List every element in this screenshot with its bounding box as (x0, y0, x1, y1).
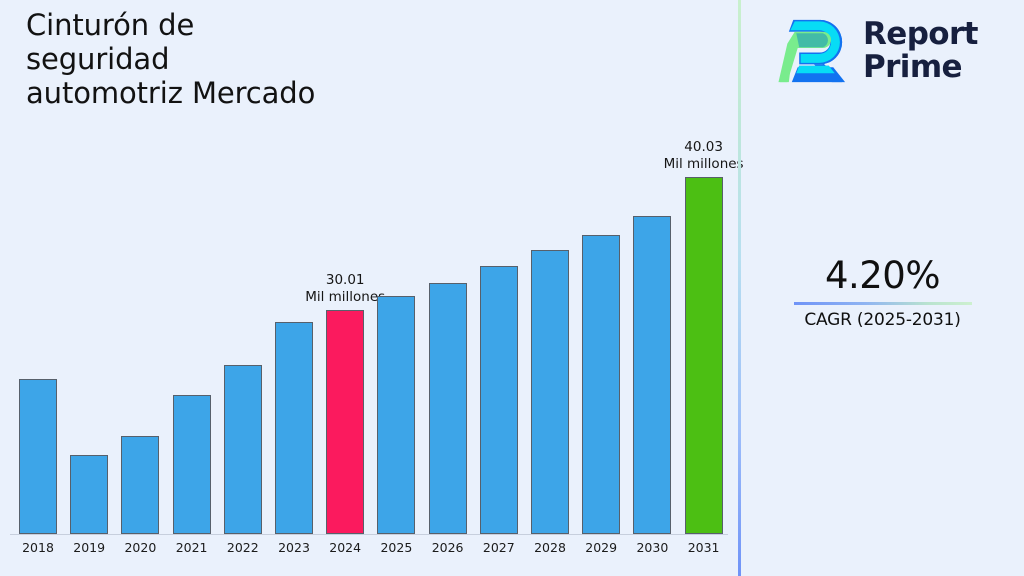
bar-2025[interactable] (377, 296, 415, 534)
report-prime-logo-icon (777, 14, 851, 88)
bar-rect-2027 (480, 266, 518, 534)
bar-2029[interactable] (582, 235, 620, 534)
bar-rect-2019 (70, 455, 108, 534)
cagr-divider-rule (794, 302, 972, 305)
bar-rect-2026 (429, 283, 467, 534)
bar-2022[interactable] (224, 365, 262, 534)
bar-value-label-2031: 40.03Mil millones (664, 139, 744, 173)
side-panel: Report Prime 4.20% CAGR (2025-2031) (741, 0, 1024, 576)
bar-value-unit-2031: Mil millones (664, 156, 744, 173)
brand-name: Report Prime (863, 18, 978, 83)
bar-2018[interactable] (19, 379, 57, 534)
bar-2020[interactable] (121, 436, 159, 534)
cagr-value: 4.20% (741, 255, 1024, 298)
bar-2024[interactable]: 30.01Mil millones (326, 310, 364, 534)
bar-2021[interactable] (173, 395, 211, 534)
bar-rect-2021 (173, 395, 211, 534)
brand-name-line-1: Report (863, 16, 978, 52)
x-tick-2027: 2027 (483, 540, 515, 555)
bar-value-unit-2024: Mil millones (305, 289, 385, 306)
bar-2023[interactable] (275, 322, 313, 534)
brand-name-line-2: Prime (863, 49, 962, 85)
bar-rect-2031 (685, 177, 723, 534)
x-tick-2031: 2031 (688, 540, 720, 555)
bar-2026[interactable] (429, 283, 467, 534)
x-tick-2021: 2021 (176, 540, 208, 555)
bar-2027[interactable] (480, 266, 518, 534)
x-tick-2023: 2023 (278, 540, 310, 555)
bar-rect-2028 (531, 250, 569, 534)
x-tick-2025: 2025 (380, 540, 412, 555)
x-tick-2018: 2018 (22, 540, 54, 555)
x-tick-2029: 2029 (585, 540, 617, 555)
x-tick-2026: 2026 (432, 540, 464, 555)
x-tick-2024: 2024 (329, 540, 361, 555)
bar-rect-2018 (19, 379, 57, 534)
bar-2030[interactable] (633, 216, 671, 534)
x-tick-2030: 2030 (636, 540, 668, 555)
bar-value-label-2024: 30.01Mil millones (305, 272, 385, 306)
bar-rect-2030 (633, 216, 671, 534)
bar-rect-2024 (326, 310, 364, 534)
cagr-block: 4.20% CAGR (2025-2031) (741, 255, 1024, 330)
bar-2031[interactable]: 40.03Mil millones (685, 177, 723, 534)
bar-chart-plot-area: 30.01Mil millones40.03Mil millones (0, 0, 739, 534)
bar-2019[interactable] (70, 455, 108, 534)
bar-rect-2020 (121, 436, 159, 534)
x-axis-tick-labels: 2018201920202021202220232024202520262027… (0, 540, 739, 564)
cagr-caption: CAGR (2025-2031) (741, 310, 1024, 330)
bar-2028[interactable] (531, 250, 569, 534)
bar-rect-2029 (582, 235, 620, 534)
x-tick-2019: 2019 (73, 540, 105, 555)
x-tick-2022: 2022 (227, 540, 259, 555)
bar-rect-2022 (224, 365, 262, 534)
bar-value-amount-2024: 30.01 (305, 272, 385, 289)
x-axis-line (10, 534, 728, 535)
brand-logo: Report Prime (777, 14, 978, 88)
bar-rect-2025 (377, 296, 415, 534)
chart-panel: Cinturón de seguridad automotriz Mercado… (0, 0, 739, 576)
x-tick-2028: 2028 (534, 540, 566, 555)
bar-value-amount-2031: 40.03 (664, 139, 744, 156)
x-tick-2020: 2020 (124, 540, 156, 555)
bar-rect-2023 (275, 322, 313, 534)
